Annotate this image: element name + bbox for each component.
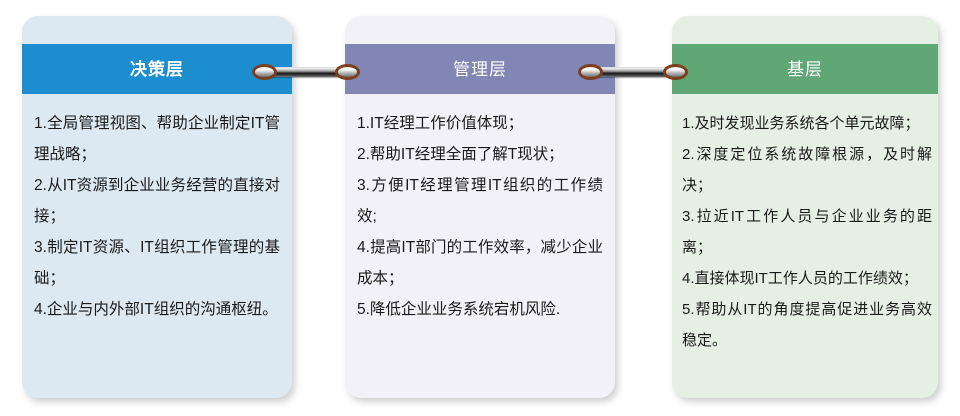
connector-ring-right-icon <box>663 64 688 80</box>
connector-bar <box>266 67 346 77</box>
list-item: 3.方便IT经理管理IT组织的工作绩效; <box>357 170 603 232</box>
card-body-management-layer: 1.IT经理工作价值体现； 2.帮助IT经理全面了解T现状； 3.方便IT经理管… <box>345 94 615 335</box>
connector-management-base <box>578 64 688 80</box>
card-title-management-layer: 管理层 <box>453 61 507 78</box>
diagram-canvas: 决策层 1.全局管理视图、帮助企业制定IT管理战略； 2.从IT资源到企业业务经… <box>0 0 960 416</box>
card-base-layer[interactable]: 基层 1.及时发现业务系统各个单元故障； 2.深度定位系统故障根源，及时解决； … <box>672 16 938 398</box>
list-item: 1.IT经理工作价值体现； <box>357 108 603 139</box>
card-title-decision-layer: 决策层 <box>130 61 184 78</box>
card-header-management-layer: 管理层 <box>345 44 615 94</box>
connector-ring-right-icon <box>335 64 360 80</box>
card-title-base-layer: 基层 <box>787 61 823 78</box>
list-item: 4.直接体现IT工作人员的工作绩效； <box>682 263 932 294</box>
list-item: 4.提高IT部门的工作效率，减少企业成本； <box>357 232 603 294</box>
card-header-base-layer: 基层 <box>672 44 938 94</box>
list-item: 2.从IT资源到企业业务经营的直接对接； <box>34 170 280 232</box>
connector-decision-management <box>252 64 360 80</box>
connector-ring-left-icon <box>578 64 603 80</box>
list-item: 3.制定IT资源、IT组织工作管理的基础； <box>34 232 280 294</box>
list-item: 1.及时发现业务系统各个单元故障； <box>682 108 932 139</box>
list-item: 5.帮助从IT的角度提高促进业务高效稳定。 <box>682 294 932 356</box>
list-item: 4.企业与内外部IT组织的沟通枢纽。 <box>34 294 280 325</box>
list-item: 5.降低企业业务系统宕机风险. <box>357 294 603 325</box>
list-item: 3.拉近IT工作人员与企业业务的距离； <box>682 201 932 263</box>
connector-ring-left-icon <box>252 64 277 80</box>
list-item: 2.帮助IT经理全面了解T现状； <box>357 139 603 170</box>
list-item: 1.全局管理视图、帮助企业制定IT管理战略； <box>34 108 280 170</box>
card-management-layer[interactable]: 管理层 1.IT经理工作价值体现； 2.帮助IT经理全面了解T现状； 3.方便I… <box>345 16 615 398</box>
connector-bar <box>592 67 674 77</box>
card-body-base-layer: 1.及时发现业务系统各个单元故障； 2.深度定位系统故障根源，及时解决； 3.拉… <box>672 94 938 366</box>
list-item: 2.深度定位系统故障根源，及时解决； <box>682 139 932 201</box>
card-body-decision-layer: 1.全局管理视图、帮助企业制定IT管理战略； 2.从IT资源到企业业务经营的直接… <box>22 94 292 335</box>
